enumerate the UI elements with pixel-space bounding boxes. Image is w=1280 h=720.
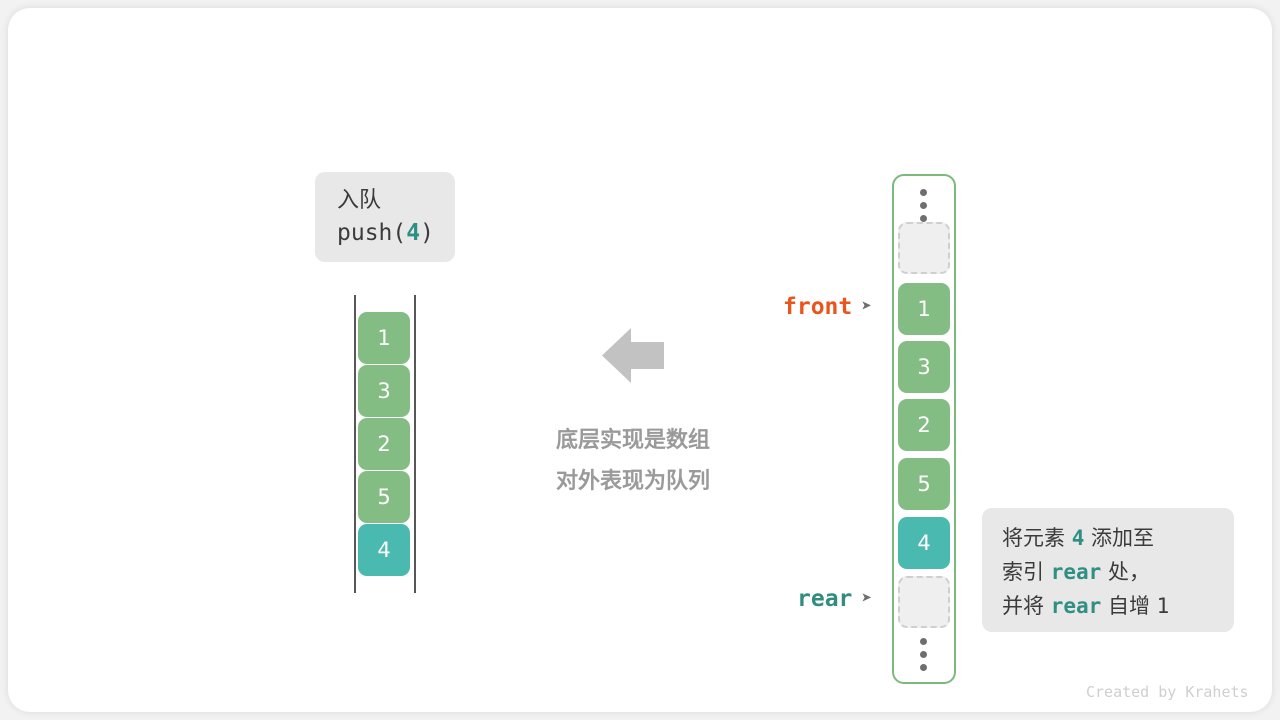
diagram-caption: 底层实现是数组 对外表现为队列 xyxy=(536,420,730,502)
caption-line2: 对外表现为队列 xyxy=(536,461,730,502)
rear-note-l3-num: 1 xyxy=(1157,594,1170,618)
array-cell-5: 4 xyxy=(898,517,950,569)
push-note-line1: 入队 xyxy=(337,186,455,216)
array-cell-6 xyxy=(898,576,950,628)
diagram-canvas: 入队 push(4) 1 3 2 5 4 底层实现是数组 对外表现为队列 fro… xyxy=(0,0,1280,720)
rear-note-l1-a: 将元素 xyxy=(1002,526,1072,550)
queue-rule-right xyxy=(414,295,416,593)
credit-text: Created by Krahets xyxy=(1086,683,1249,701)
rear-note-l2-b: 处， xyxy=(1101,560,1150,584)
rear-note-box: 将元素 4 添加至 索引 rear 处， 并将 rear 自增 1 xyxy=(982,508,1234,632)
rear-note-l2-a: 索引 xyxy=(1002,560,1051,584)
rear-note-l1-num: 4 xyxy=(1072,526,1085,550)
front-pointer-text: front xyxy=(783,294,852,320)
queue-cell-1: 3 xyxy=(358,365,410,417)
push-call-prefix: push( xyxy=(337,220,406,246)
rear-note-line2: 索引 rear 处， xyxy=(1002,555,1234,589)
queue-rule-left xyxy=(354,295,356,593)
transform-arrow-icon xyxy=(602,328,664,383)
front-arrow-icon: ➤ xyxy=(861,296,872,317)
array-cell-1: 1 xyxy=(898,283,950,335)
rear-note-l2-mono: rear xyxy=(1051,560,1102,584)
rear-note-line3: 并将 rear 自增 1 xyxy=(1002,589,1234,623)
array-top-ellipsis-icon xyxy=(920,189,928,223)
rear-pointer-label: rear➤ xyxy=(797,586,872,612)
push-call-suffix: ) xyxy=(420,220,434,246)
push-call-value: 4 xyxy=(406,220,420,246)
rear-note-l1-b: 添加至 xyxy=(1084,526,1154,550)
rear-note-l3-a: 并将 xyxy=(1002,594,1051,618)
queue-cell-2: 2 xyxy=(358,418,410,470)
rear-note-l3-mono: rear xyxy=(1051,594,1102,618)
push-note-line2: push(4) xyxy=(337,216,455,250)
array-bottom-ellipsis-icon xyxy=(920,638,928,672)
diagram-card: 入队 push(4) 1 3 2 5 4 底层实现是数组 对外表现为队列 fro… xyxy=(8,8,1272,712)
front-pointer-label: front➤ xyxy=(783,294,872,320)
rear-note-l3-b: 自增 xyxy=(1101,594,1156,618)
queue-cell-3: 5 xyxy=(358,471,410,523)
caption-line1: 底层实现是数组 xyxy=(536,420,730,461)
push-note-box: 入队 push(4) xyxy=(315,172,455,262)
array-cell-0 xyxy=(898,222,950,274)
queue-cell-4: 4 xyxy=(358,524,410,576)
array-cell-2: 3 xyxy=(898,341,950,393)
rear-pointer-text: rear xyxy=(797,586,852,612)
logical-queue-column: 1 3 2 5 4 xyxy=(354,295,416,593)
queue-cell-0: 1 xyxy=(358,312,410,364)
array-cell-4: 5 xyxy=(898,458,950,510)
rear-arrow-icon: ➤ xyxy=(861,588,872,609)
rear-note-line1: 将元素 4 添加至 xyxy=(1002,521,1234,555)
array-cell-3: 2 xyxy=(898,399,950,451)
underlying-array-column: 1 3 2 5 4 xyxy=(892,174,956,684)
